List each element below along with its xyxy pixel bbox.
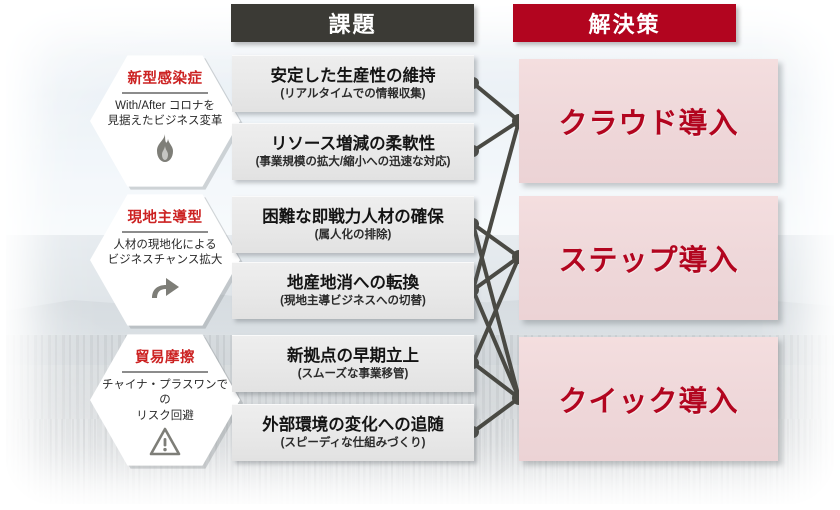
challenge-3-title: 困難な即戦力人材の確保 bbox=[262, 208, 444, 227]
driver-subtitle-3-line2: リスク回避 bbox=[101, 409, 229, 425]
challenge-6-detail: (スピーディな仕組みづくり) bbox=[281, 437, 426, 450]
driver-title-1: 新型感染症 bbox=[128, 67, 203, 88]
flame-icon bbox=[152, 133, 178, 168]
driver-subtitle-1: With/After コロナを 見据えたビジネス変革 bbox=[101, 99, 229, 130]
challenge-3-detail: (属人化の排除) bbox=[315, 229, 392, 242]
driver-title-2: 現地主導型 bbox=[128, 206, 203, 227]
driver-subtitle-3-line1: チャイナ・プラスワンでの bbox=[101, 378, 229, 409]
challenge-4-detail: (現地主導ビジネスへの切替) bbox=[280, 295, 426, 308]
challenge-2-detail: (事業規模の拡大/縮小への迅速な対応) bbox=[256, 156, 451, 169]
challenge-box-3[interactable]: 困難な即戦力人材の確保 (属人化の排除) bbox=[232, 196, 474, 253]
solution-3-label: クイック導入 bbox=[558, 378, 738, 420]
challenge-box-1[interactable]: 安定した生産性の維持 (リアルタイムでの情報収集) bbox=[232, 55, 474, 112]
driver-divider-2 bbox=[122, 231, 208, 233]
driver-subtitle-1-line2: 見据えたビジネス変革 bbox=[101, 114, 229, 130]
challenge-box-5[interactable]: 新拠点の早期立上 (スムーズな事業移管) bbox=[232, 335, 474, 392]
challenge-1-detail: (リアルタイムでの情報収集) bbox=[280, 88, 425, 101]
solution-box-cloud[interactable]: クラウド導入 bbox=[519, 59, 778, 183]
driver-subtitle-3: チャイナ・プラスワンでの リスク回避 bbox=[101, 378, 229, 425]
driver-divider-1 bbox=[122, 92, 208, 94]
challenge-4-title: 地産地消への転換 bbox=[287, 274, 419, 293]
solution-2-label: ステップ導入 bbox=[558, 237, 738, 279]
challenge-6-title: 外部環境の変化への追随 bbox=[262, 416, 444, 435]
driver-subtitle-2: 人材の現地化による ビジネスチャンス拡大 bbox=[101, 238, 229, 269]
challenge-5-detail: (スムーズな事業移管) bbox=[298, 368, 409, 381]
driver-divider-3 bbox=[122, 371, 208, 373]
challenge-box-6[interactable]: 外部環境の変化への追随 (スピーディな仕組みづくり) bbox=[232, 404, 474, 461]
link-c6-to-s3 bbox=[473, 398, 519, 432]
challenge-box-4[interactable]: 地産地消への転換 (現地主導ビジネスへの切替) bbox=[232, 262, 474, 319]
driver-subtitle-2-line2: ビジネスチャンス拡大 bbox=[101, 253, 229, 269]
solution-1-label: クラウド導入 bbox=[558, 100, 738, 142]
challenge-box-2[interactable]: リソース増減の柔軟性 (事業規模の拡大/縮小への迅速な対応) bbox=[232, 123, 474, 180]
challenge-2-title: リソース増減の柔軟性 bbox=[271, 135, 435, 154]
solution-box-step[interactable]: ステップ導入 bbox=[519, 196, 778, 320]
challenge-1-title: 安定した生産性の維持 bbox=[271, 67, 436, 86]
driver-subtitle-2-line1: 人材の現地化による bbox=[101, 238, 229, 254]
warning-triangle-icon bbox=[149, 427, 181, 461]
diagram-canvas: 課題 解決策 新型感染症 With/After コロ bbox=[0, 0, 840, 510]
driver-subtitle-1-line1: With/After コロナを bbox=[101, 99, 229, 115]
curved-up-arrow-icon bbox=[148, 272, 182, 305]
solution-box-quick[interactable]: クイック導入 bbox=[519, 337, 778, 461]
link-c1-to-s1 bbox=[473, 83, 519, 121]
driver-title-3: 貿易摩擦 bbox=[135, 346, 195, 367]
challenge-5-title: 新拠点の早期立上 bbox=[287, 347, 419, 366]
